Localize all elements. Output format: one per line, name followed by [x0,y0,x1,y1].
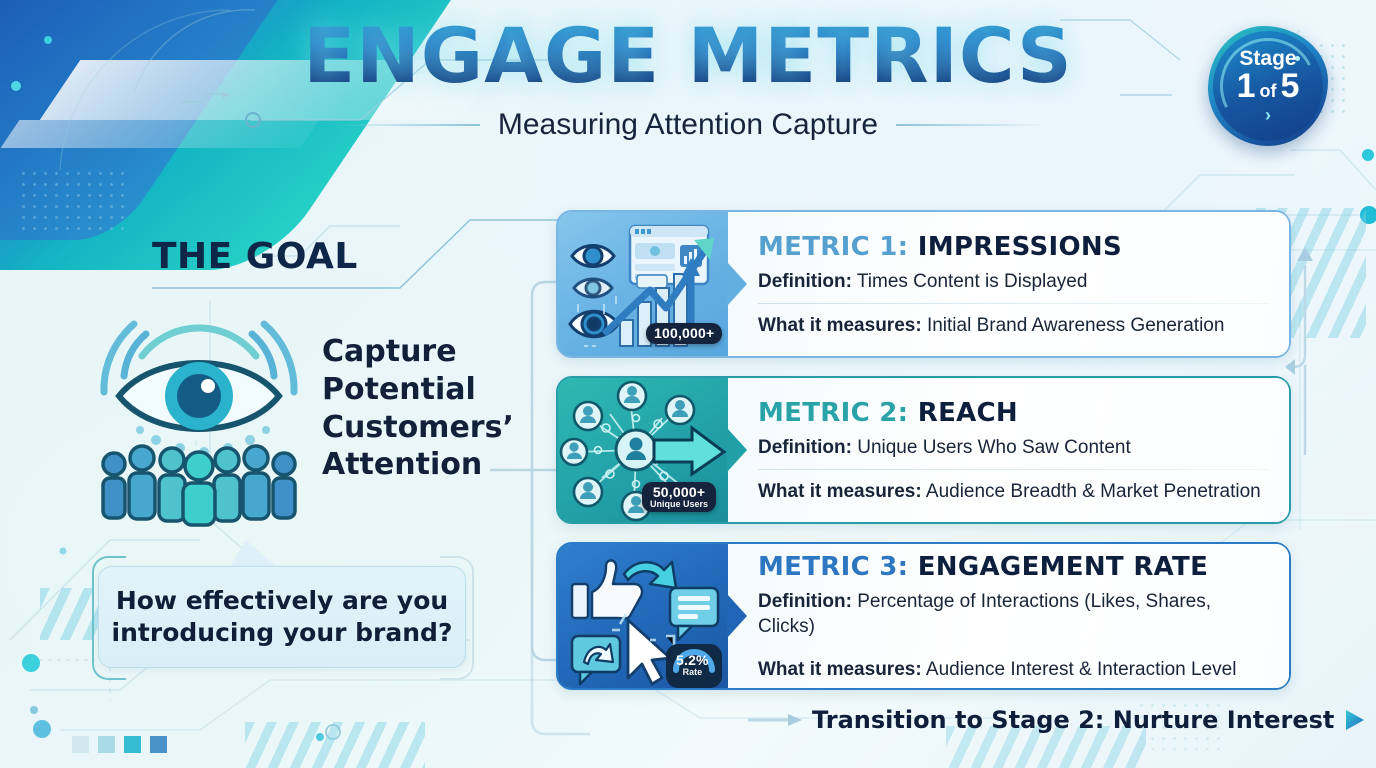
badge-stage-number-row: 1 of 5 [1237,69,1300,105]
infographic-canvas: ENGAGE METRICS Measuring Attention Captu… [0,0,1376,768]
metric-definition-line: Definition: Percentage of Interactions (… [758,589,1269,640]
measures-value: Audience Interest & Interaction Level [926,659,1237,680]
stat-chip-value: 50,000+ [650,485,708,500]
footer-transition[interactable]: Transition to Stage 2: Nurture Interest [812,706,1366,734]
card-notch-arrow [727,262,747,306]
footer-arrow-left-icon [748,714,804,726]
measures-value: Initial Brand Awareness Generation [927,315,1225,336]
user-network-icon: 50,000+ Unique Users [558,378,728,522]
stat-chip-value: 5.2% [676,653,709,668]
measures-label: What it measures: [758,481,922,502]
metric-measures-line: What it measures: Initial Brand Awarenes… [758,313,1269,339]
metric-prefix: METRIC 1: [758,232,908,262]
badge-stage-label: Stage [1239,48,1296,69]
card-notch-arrow [727,594,747,638]
thumbs-up-share-comment-cursor-icon: 5.2% Rate [558,544,728,688]
page-title: ENGAGE METRICS [0,18,1376,94]
page-subtitle: Measuring Attention Capture [498,108,878,142]
metric-card[interactable]: 50,000+ Unique Users METRIC 2: REACH Def… [556,376,1291,524]
badge-current-number: 1 [1237,69,1256,105]
definition-value: Times Content is Displayed [857,271,1088,292]
metric-title: METRIC 1: IMPRESSIONS [758,232,1269,262]
metric-title: METRIC 2: REACH [758,398,1269,428]
card-notch-arrow [727,428,747,472]
subtitle-rule-right [896,124,1046,126]
card-feedback-arrows [1285,205,1376,745]
stat-chip-caption: Rate [676,668,709,677]
metric-card[interactable]: 100,000+ METRIC 1: IMPRESSIONS Definitio… [556,210,1291,358]
transition-label: Transition to Stage 2: Nurture Interest [812,706,1334,734]
metric-prefix: METRIC 2: [758,398,908,428]
stat-chip: 5.2% Rate [668,650,717,680]
metric-card-body: METRIC 1: IMPRESSIONS Definition: Times … [728,212,1289,356]
divider [758,469,1269,470]
measures-label: What it measures: [758,659,922,680]
definition-label: Definition: [758,271,852,292]
eyes-chart-growth-icon: 100,000+ [558,212,728,356]
goal-heading: THE GOAL [152,236,358,277]
metric-measures-line: What it measures: Audience Breadth & Mar… [758,479,1269,505]
measures-value: Audience Breadth & Market Penetration [926,481,1261,502]
stat-chip-value: 100,000+ [654,326,714,341]
definition-label: Definition: [758,591,852,612]
header: ENGAGE METRICS Measuring Attention Captu… [0,18,1376,142]
callout-question: How effectively are you introducing your… [99,585,465,649]
stage-badge[interactable]: Stage 1 of 5 › [1208,26,1328,146]
metric-definition-line: Definition: Times Content is Displayed [758,269,1269,295]
metric-card-body: METRIC 3: ENGAGEMENT RATE Definition: Pe… [728,544,1289,688]
dot-grid-top-left [18,168,128,238]
badge-total-number: 5 [1281,69,1300,105]
definition-label: Definition: [758,437,852,458]
metric-card-body: METRIC 2: REACH Definition: Unique Users… [728,378,1289,522]
eye-broadcast-audience-icon [84,300,314,525]
arrow-right-icon [1344,708,1366,732]
subtitle-row: Measuring Attention Capture [0,108,1376,142]
metric-name: REACH [918,398,1018,428]
stat-chip: 100,000+ [646,323,722,344]
badge-content: Stage 1 of 5 › [1208,26,1328,146]
metric-name: ENGAGEMENT RATE [918,552,1208,582]
subtitle-rule-left [330,124,480,126]
measures-label: What it measures: [758,315,922,336]
stat-chip-caption: Unique Users [650,500,708,509]
metric-measures-line: What it measures: Audience Interest & In… [758,657,1269,683]
stripe-block-bottom-center [245,722,425,768]
chevron-right-icon: › [1265,106,1271,124]
definition-value: Unique Users Who Saw Content [857,437,1131,458]
callout-box: How effectively are you introducing your… [98,566,466,668]
divider [758,303,1269,304]
square-swatch-row [72,736,167,753]
metric-name: IMPRESSIONS [918,232,1122,262]
metric-definition-line: Definition: Unique Users Who Saw Content [758,435,1269,461]
metric-card[interactable]: 5.2% Rate METRIC 3: ENGAGEMENT RATE Defi… [556,542,1291,690]
metric-prefix: METRIC 3: [758,552,908,582]
badge-of-label: of [1260,82,1277,101]
stat-chip: 50,000+ Unique Users [642,482,716,512]
metric-title: METRIC 3: ENGAGEMENT RATE [758,552,1269,582]
